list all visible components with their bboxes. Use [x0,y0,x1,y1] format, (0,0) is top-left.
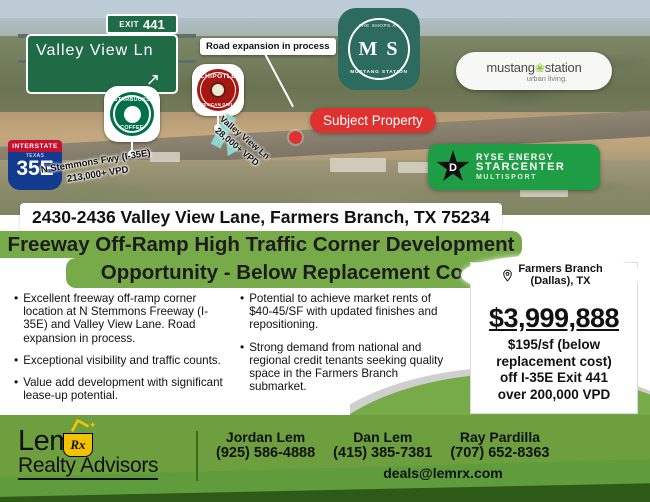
sparkle-icon: ✦ [89,420,97,431]
price-panel: Farmers Branch (Dallas), TX $3,999,888 $… [470,262,638,414]
exit-label: EXIT [119,20,139,29]
chipotle-top-text: CHIPOTLE [197,73,239,80]
location-city: Farmers Branch [518,263,602,276]
bullet-marker: • [14,376,18,402]
chipotle-logo-icon: CHIPOTLE MEXICAN GRILL [197,69,239,111]
stars-d-mark: D [449,162,457,174]
list-item: • Potential to achieve market rents of $… [240,292,454,332]
building [330,158,386,172]
contact-jordan-lem[interactable]: Jordan Lem (925) 586-4888 [216,429,315,462]
bullet-text: Potential to achieve market rents of $40… [249,292,454,332]
bullet-text: Value add development with significant l… [23,376,228,402]
rx-symbol: Rx [70,437,85,453]
mortar-icon: Rx [63,433,93,457]
pin-ryse-energy-starcenter[interactable]: D RYSE ENERGY STARCENTER MULTISPORT [428,144,600,190]
contact-ray-pardilla[interactable]: Ray Pardilla (707) 652-8363 [450,429,549,462]
shops-monogram: M S [359,40,400,58]
bullet-text: Exceptional visibility and traffic count… [23,354,221,367]
footer-contact-bar: Lem ✦ Rx Realty Advisors Jordan Lem (925… [0,415,650,502]
map-pin-icon [501,269,514,282]
badge-ring: THE SHOPS AT M S MUSTANG STATION [348,18,410,80]
building [398,162,432,173]
bullet-marker: • [14,354,18,367]
list-item: • Value add development with significant… [14,376,228,402]
logo-top-row: Lem ✦ Rx [18,427,188,455]
bullet-marker: • [240,292,244,332]
contact-name: Ray Pardilla [450,429,549,445]
contact-name: Dan Lem [333,429,432,445]
footer-divider [196,431,198,481]
mortar-pestle-rx-icon: ✦ Rx [63,433,93,457]
contact-dan-lem[interactable]: Dan Lem (415) 385-7381 [333,429,432,462]
pin-disc: STARBUCKS COFFEE [104,86,160,142]
station-word: station [545,60,582,75]
logo-tagline: Realty Advisors [18,455,158,480]
subject-property-marker [289,131,302,144]
flyer: EXIT 441 Valley View Ln ↗ INTERSTATE TEX… [0,0,650,502]
asking-price: $3,999,888 [471,303,637,334]
bullet-marker: • [14,292,18,345]
headline-line-2: Opportunity - Below Replacement Cost [66,258,516,288]
headline-line-1: Freeway Off-Ramp High Traffic Corner Dev… [0,231,522,258]
location-metro: (Dallas), TX [518,275,602,288]
contact-phone[interactable]: (415) 385-7381 [333,445,432,462]
valley-view-street-sign: Valley View Ln ↗ [26,34,178,94]
location-text: Farmers Branch (Dallas), TX [518,263,602,288]
contact-phone[interactable]: (925) 586-4888 [216,445,315,462]
building [150,152,180,162]
price-detail-line-3: off I-35E Exit 441 [471,370,637,387]
contacts-block: Jordan Lem (925) 586-4888 Dan Lem (415) … [210,429,640,481]
mustang-station-wordmark: mustang❀station [486,60,581,75]
chipotle-bottom-text: MEXICAN GRILL [197,102,239,107]
starbucks-bottom-text: COFFEE [110,125,154,131]
property-address-bar: 2430-2436 Valley View Lane, Farmers Bran… [20,203,502,231]
contact-phone[interactable]: (707) 652-8363 [450,445,549,462]
leaf-icon: ❀ [535,61,545,75]
starcenter-line3: MULTISPORT [476,174,565,181]
contact-row: Jordan Lem (925) 586-4888 Dan Lem (415) … [210,429,640,462]
dallas-stars-logo-icon: D [436,150,470,184]
pin-mustang-station-urban-living[interactable]: mustang❀station urban living. [456,52,612,90]
contact-email[interactable]: deals@lemrx.com [210,465,640,481]
lem-realty-advisors-logo[interactable]: Lem ✦ Rx Realty Advisors [18,427,188,480]
starcenter-line2: STARCENTER [476,162,565,174]
mustang-word: mustang [486,60,534,75]
street-sign-text: Valley View Ln [36,42,168,60]
exit-number: 441 [143,17,165,32]
shops-arc-top-text: THE SHOPS AT [350,23,408,28]
bullet-column-left: • Excellent freeway off-ramp corner loca… [14,292,228,411]
price-detail-line-4: over 200,000 VPD [471,387,637,404]
pin-starbucks[interactable]: STARBUCKS COFFEE [104,86,160,142]
mustang-station-tagline: urban living. [527,74,567,83]
price-detail-line-1: $195/sf (below [471,337,637,354]
pin-disc: CHIPOTLE MEXICAN GRILL [192,64,244,116]
starcenter-text-block: RYSE ENERGY STARCENTER MULTISPORT [476,153,565,181]
starbucks-logo-icon: STARBUCKS COFFEE [110,92,154,136]
list-item: • Exceptional visibility and traffic cou… [14,354,228,367]
starbucks-top-text: STARBUCKS [110,97,154,103]
subject-property-pill: Subject Property [310,108,436,133]
bullet-marker: • [240,341,244,394]
list-item: • Excellent freeway off-ramp corner loca… [14,292,228,345]
bullet-text: Excellent freeway off-ramp corner locati… [23,292,228,345]
road-expansion-callout: Road expansion in process [200,38,336,55]
pin-chipotle[interactable]: CHIPOTLE MEXICAN GRILL [192,64,244,116]
shops-arc-bottom-text: MUSTANG STATION [350,70,408,75]
exit-number-tab: EXIT 441 [106,14,178,34]
contact-name: Jordan Lem [216,429,315,445]
price-details: $195/sf (below replacement cost) off I-3… [471,337,637,403]
aerial-map-photo: EXIT 441 Valley View Ln ↗ INTERSTATE TEX… [0,0,650,215]
location-badge: Farmers Branch (Dallas), TX [461,255,643,295]
price-detail-line-2: replacement cost) [471,354,637,371]
pin-shops-at-mustang-station[interactable]: THE SHOPS AT M S MUSTANG STATION [338,8,420,90]
